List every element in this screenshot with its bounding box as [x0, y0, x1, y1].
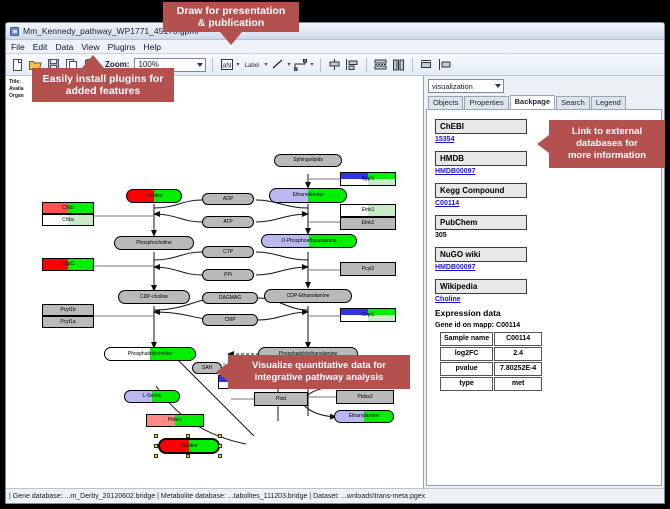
expr-key: type — [440, 377, 493, 391]
node-ppi[interactable]: PPi — [202, 269, 254, 281]
node-label: Etnk1 — [362, 208, 375, 213]
expr-key: pvalue — [440, 362, 493, 376]
node-label: Pcyt1a — [60, 320, 75, 325]
callout-links-line3: more information — [568, 150, 646, 162]
connector-icon[interactable] — [293, 57, 308, 72]
node-label: Choline — [146, 194, 163, 199]
node-label: Ptdsr1 — [168, 418, 182, 423]
svg-text:Label: Label — [245, 63, 260, 69]
tab-legend[interactable]: Legend — [591, 96, 626, 109]
gene-id-on-mapp: Gene id on mapp: C00114 — [435, 322, 661, 329]
selection-handle[interactable] — [218, 454, 222, 458]
visualization-row: visualization — [424, 76, 664, 96]
gene-cept1[interactable]: Cept1 — [340, 308, 396, 322]
callout-links: Link to external databases for more info… — [549, 120, 665, 168]
db-link-hmdb[interactable]: HMDB00097 — [435, 168, 661, 175]
table-row: type met — [440, 377, 542, 391]
node-phosphocholine[interactable]: Phosphocholine — [114, 236, 194, 250]
db-name-chebi: ChEBI — [435, 119, 527, 134]
node-ctp[interactable]: CTP — [202, 246, 254, 258]
menu-item-file[interactable]: File — [11, 42, 25, 52]
node-atp[interactable]: ATP — [202, 216, 254, 228]
db-name-wikipedia: Wikipedia — [435, 279, 527, 294]
gene-chkb[interactable]: Chkb — [42, 202, 94, 214]
callout-draw-line2: & publication — [198, 17, 265, 29]
selection-handle[interactable] — [218, 444, 222, 448]
node-label: CTP — [223, 250, 233, 255]
callout-visualize-line2: integrative pathway analysis — [255, 372, 384, 384]
node-sphingolipids[interactable]: Sphingolipids — [274, 154, 342, 167]
status-text: | Gene database: ...m_Derby_20120602.bri… — [9, 493, 425, 500]
chevron-down-icon[interactable]: ▾ — [236, 61, 239, 68]
callout-plugins: Easily install plugins for added feature… — [32, 68, 174, 102]
db-name-nugo: NuGO wiki — [435, 247, 527, 262]
line-icon[interactable] — [270, 57, 285, 72]
align-left-icon[interactable] — [345, 57, 360, 72]
node-label: Pisd — [276, 397, 286, 402]
callout-draw-line1: Draw for presentation — [177, 5, 286, 17]
visualization-combo[interactable]: visualization — [428, 79, 504, 93]
tab-backpage[interactable]: Backpage — [510, 95, 555, 109]
node-label: Pcyt2 — [362, 267, 375, 272]
node-adp[interactable]: ADP — [202, 193, 254, 205]
node-label: SAH — [202, 366, 212, 371]
new-icon[interactable] — [10, 57, 25, 72]
db-name-pubchem: PubChem — [435, 215, 527, 230]
table-row: Sample name C00114 — [440, 332, 542, 346]
node-label: Phosphatidylcholine — [128, 352, 172, 357]
gene-ptdsr1[interactable]: Ptdsr1 — [146, 414, 204, 427]
pathway-edges — [6, 76, 424, 486]
node-label: DAGMAG — [219, 296, 241, 301]
pathway-canvas[interactable]: Title: Availa Organ — [6, 76, 424, 488]
callout-draw-arrow-icon — [220, 32, 242, 45]
node-label: Ethanolamine — [349, 414, 380, 419]
gene-pcyt1b[interactable]: Pcyt1b — [42, 304, 94, 316]
node-choline-selected[interactable]: Choline — [158, 438, 220, 454]
db-entry-wikipedia: Wikipedia Choline — [435, 276, 661, 303]
db-entry-nugo: NuGO wiki HMDB00097 — [435, 244, 661, 271]
menu-bar: File Edit Data View Plugins Help — [6, 40, 664, 54]
node-label: L-Serine — [143, 394, 162, 399]
node-label: Cept1 — [361, 313, 374, 318]
db-link-nugo[interactable]: HMDB00097 — [435, 264, 661, 271]
distribute-icon[interactable] — [373, 57, 388, 72]
node-cmp[interactable]: CMP — [202, 314, 258, 326]
node-label: ATP — [223, 220, 232, 225]
node-cdp-ethanolamine[interactable]: CDP-Ethanolamine — [264, 289, 352, 303]
expr-key: Sample name — [440, 332, 493, 346]
db-entry-pubchem: PubChem 305 — [435, 212, 661, 239]
gene-pisd[interactable]: Pisd — [254, 392, 308, 406]
node-label: Chka — [62, 218, 74, 223]
callout-draw: Draw for presentation & publication — [163, 2, 299, 32]
callout-plugins-line2: added features — [66, 85, 141, 97]
callout-links-line1: Link to external — [572, 126, 642, 138]
db-link-wikipedia[interactable]: Choline — [435, 296, 661, 303]
selection-handle[interactable] — [218, 434, 222, 438]
app-icon — [10, 27, 19, 36]
node-label: Phosphocholine — [136, 241, 172, 246]
expr-key: log2FC — [440, 347, 493, 361]
node-label: PPi — [224, 273, 232, 278]
selection-handle[interactable] — [154, 444, 158, 448]
resize-icon[interactable] — [391, 57, 406, 72]
expr-value: met — [494, 377, 542, 391]
svg-text:aN: aN — [222, 62, 231, 69]
menu-item-edit[interactable]: Edit — [33, 42, 48, 52]
node-label: Chkb — [62, 206, 74, 211]
gene-chpt1[interactable]: Chpt1 — [42, 258, 94, 271]
selection-handle[interactable] — [154, 454, 158, 458]
chevron-down-icon[interactable]: ▾ — [310, 61, 313, 68]
tab-objects[interactable]: Objects — [428, 96, 463, 109]
visualization-value: visualization — [432, 82, 473, 91]
order-icon[interactable] — [437, 57, 452, 72]
db-name-hmdb: HMDB — [435, 151, 527, 166]
node-label: Choline — [181, 444, 198, 449]
node-choline-top[interactable]: Choline — [126, 189, 182, 203]
node-cdp-choline[interactable]: CDP-choline — [118, 290, 190, 304]
node-label: CDP-Ethanolamine — [287, 294, 330, 299]
align-center-icon[interactable] — [327, 57, 342, 72]
tab-search[interactable]: Search — [556, 96, 590, 109]
selection-handle[interactable] — [154, 434, 158, 438]
expr-value: 7.80252E-4 — [494, 362, 542, 376]
callout-plugins-line1: Easily install plugins for — [43, 73, 164, 85]
side-panel-tabs: Objects Properties Backpage Search Legen… — [424, 96, 664, 109]
status-bar: | Gene database: ...m_Derby_20120602.bri… — [6, 488, 664, 503]
callout-visualize: Visualize quantitative data for integrat… — [228, 355, 410, 389]
db-value-pubchem: 305 — [435, 232, 661, 239]
node-label: Sgpl1 — [362, 177, 375, 182]
chevron-down-icon — [197, 63, 203, 67]
node-label: Pcyt1b — [60, 308, 75, 313]
expr-value: C00114 — [494, 332, 542, 346]
node-dagmag[interactable]: DAGMAG — [202, 292, 258, 304]
table-row: log2FC 2.4 — [440, 347, 542, 361]
node-label: CMP — [224, 318, 235, 323]
db-link-kegg[interactable]: C00114 — [435, 200, 661, 207]
toolbar-separator — [412, 58, 413, 72]
gene-sgpl1[interactable]: Sgpl1 — [340, 172, 396, 186]
expression-data-heading: Expression data — [435, 308, 661, 318]
node-label: Etnk2 — [362, 221, 375, 226]
node-label: CDP-choline — [140, 295, 168, 300]
label-icon[interactable]: Label — [242, 57, 262, 72]
text-icon[interactable]: aN — [219, 57, 234, 72]
selection-handle[interactable] — [186, 434, 190, 438]
gene-etnk1[interactable]: Etnk1 — [340, 204, 396, 217]
node-label: O-Phosphoethanolamine — [281, 239, 336, 244]
expression-data-table: Sample name C00114 log2FC 2.4 pvalue 7.8… — [439, 331, 543, 392]
node-label: Ptdss2 — [357, 395, 372, 400]
node-label: Chpt1 — [61, 262, 74, 267]
gene-ptdss2[interactable]: Ptdss2 — [336, 390, 394, 404]
toolbar-separator — [366, 58, 367, 72]
node-label: Ethanolamine — [293, 193, 324, 198]
gene-chka[interactable]: Chka — [42, 214, 94, 226]
node-o-phosphoethanolamine[interactable]: O-Phosphoethanolamine — [261, 234, 357, 248]
chevron-down-icon — [495, 84, 501, 88]
table-row: pvalue 7.80252E-4 — [440, 362, 542, 376]
callout-links-line2: databases for — [576, 138, 638, 150]
node-label: Sphingolipids — [293, 158, 323, 163]
expr-value: 2.4 — [494, 347, 542, 361]
node-label: ADP — [223, 197, 233, 202]
menu-item-help[interactable]: Help — [144, 42, 161, 52]
gene-etnk2[interactable]: Etnk2 — [340, 217, 396, 230]
group-icon[interactable] — [419, 57, 434, 72]
toolbar-separator — [212, 58, 213, 72]
node-phosphatidylcholine[interactable]: Phosphatidylcholine — [104, 347, 196, 361]
chevron-down-icon[interactable]: ▾ — [264, 61, 267, 68]
chevron-down-icon[interactable]: ▾ — [287, 61, 290, 68]
menu-item-plugins[interactable]: Plugins — [108, 42, 136, 52]
tab-properties[interactable]: Properties — [464, 96, 508, 109]
window-titlebar: Mm_Kennedy_pathway_WP1771_45176.gpml — [6, 23, 664, 40]
node-ethanolamine[interactable]: Ethanolamine — [269, 188, 347, 203]
menu-item-data[interactable]: Data — [55, 42, 73, 52]
toolbar-separator — [320, 58, 321, 72]
callout-visualize-line1: Visualize quantitative data for — [252, 360, 386, 372]
node-l-serine-left[interactable]: L-Serine — [124, 390, 180, 403]
selection-handle[interactable] — [186, 454, 190, 458]
node-ethanolamine-bottom[interactable]: Ethanolamine — [334, 410, 394, 423]
menu-item-view[interactable]: View — [81, 42, 99, 52]
db-name-kegg: Kegg Compound — [435, 183, 527, 198]
db-entry-kegg: Kegg Compound C00114 — [435, 180, 661, 207]
gene-pcyt2[interactable]: Pcyt2 — [340, 262, 396, 276]
gene-pcyt1a[interactable]: Pcyt1a — [42, 316, 94, 328]
